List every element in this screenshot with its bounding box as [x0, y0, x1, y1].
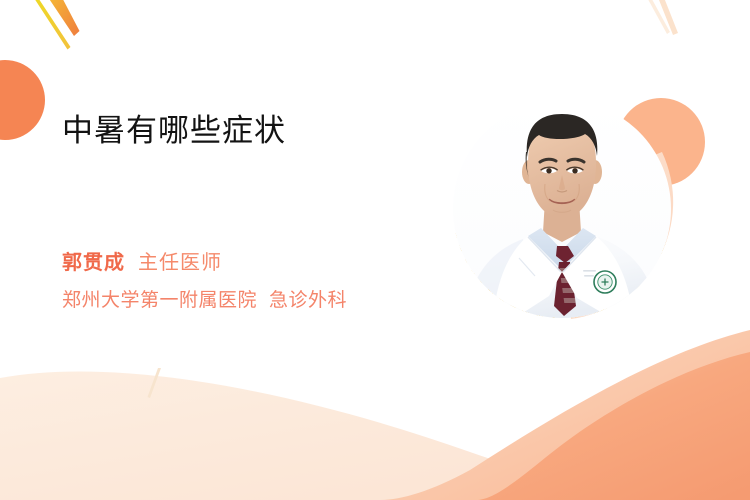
title-block: 中暑有哪些症状 [62, 112, 462, 151]
doctor-hospital: 郑州大学第一附属医院 [62, 290, 257, 311]
doctor-identity-row: 郭贯成主任医师 [62, 248, 482, 278]
top-right-streaks [644, 0, 678, 35]
page-title: 中暑有哪些症状 [62, 112, 462, 151]
doctor-affiliation-row: 郑州大学第一附属医院急诊外科 [62, 285, 482, 312]
bottom-cream-wave [0, 371, 750, 500]
video-cover-card: 中暑有哪些症状 郭贯成主任医师 郑州大学第一附属医院急诊外科 [0, 0, 750, 500]
doctor-department: 急诊外科 [269, 290, 347, 311]
top-left-streaks [28, 0, 80, 50]
left-orange-circle [0, 60, 45, 140]
doctor-portrait-image [453, 100, 671, 318]
doctor-name: 郭贯成 [62, 252, 125, 274]
doctor-professional-title: 主任医师 [138, 252, 222, 274]
doctor-meta-block: 郭贯成主任医师 郑州大学第一附属医院急诊外科 [62, 248, 482, 312]
doctor-portrait [453, 100, 671, 318]
bottom-left-streak [148, 368, 162, 398]
bottom-right-orange-wave-back [380, 330, 750, 500]
bottom-right-orange-wave [476, 352, 750, 500]
hospital-badge [594, 271, 616, 293]
